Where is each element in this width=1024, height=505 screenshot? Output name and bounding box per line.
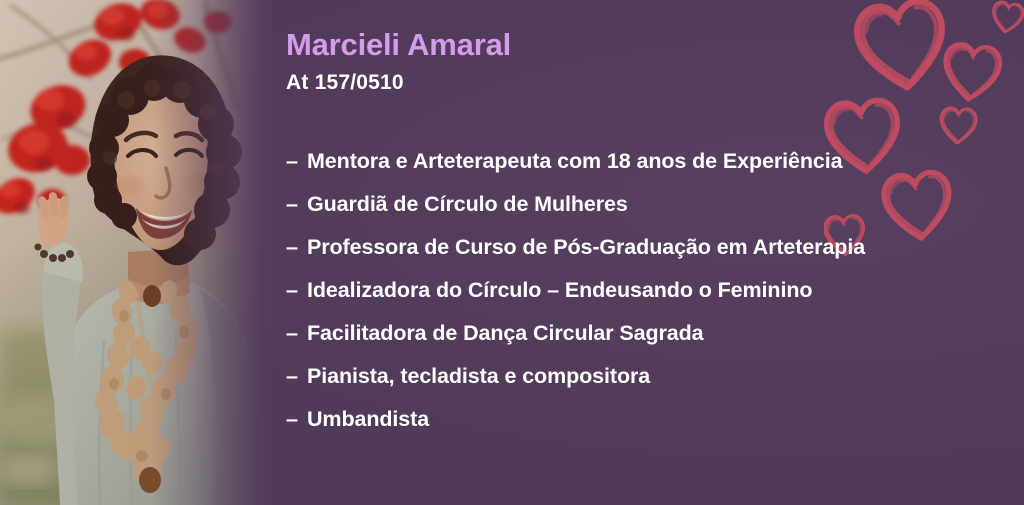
credential-item: – Facilitadora de Dança Circular Sagrada	[286, 312, 1016, 355]
person-name: Marcieli Amaral	[286, 28, 511, 62]
portrait-photo-canvas	[0, 0, 272, 505]
bullet-dash-icon: –	[286, 140, 298, 183]
bullet-dash-icon: –	[286, 269, 298, 312]
credential-text: Pianista, tecladista e compositora	[307, 364, 650, 388]
portrait-illustration	[0, 0, 272, 505]
credential-text: Mentora e Arteterapeuta com 18 anos de E…	[307, 149, 842, 173]
credential-text: Idealizadora do Círculo – Endeusando o F…	[307, 278, 812, 302]
credential-item: – Pianista, tecladista e compositora	[286, 355, 1016, 398]
credential-item: – Umbandista	[286, 398, 1016, 441]
bullet-dash-icon: –	[286, 226, 298, 269]
bullet-dash-icon: –	[286, 312, 298, 355]
credential-text: Umbandista	[307, 407, 429, 431]
profile-banner: Marcieli Amaral At 157/0510 – Mentora e …	[0, 0, 1024, 505]
portrait-photo	[0, 0, 272, 505]
bullet-dash-icon: –	[286, 398, 298, 441]
profile-content: Marcieli Amaral At 157/0510 – Mentora e …	[286, 0, 1016, 505]
credential-item: – Guardiã de Círculo de Mulheres	[286, 183, 1016, 226]
credential-item: – Professora de Curso de Pós-Graduação e…	[286, 226, 1016, 269]
credential-text: Guardiã de Círculo de Mulheres	[307, 192, 628, 216]
credential-text: Professora de Curso de Pós-Graduação em …	[307, 235, 865, 259]
credential-item: – Mentora e Arteterapeuta com 18 anos de…	[286, 140, 1016, 183]
person-subtitle: At 157/0510	[286, 70, 404, 95]
bullet-dash-icon: –	[286, 183, 298, 226]
credential-text: Facilitadora de Dança Circular Sagrada	[307, 321, 704, 345]
credential-item: – Idealizadora do Círculo – Endeusando o…	[286, 269, 1016, 312]
credentials-list: – Mentora e Arteterapeuta com 18 anos de…	[286, 140, 1016, 441]
bullet-dash-icon: –	[286, 355, 298, 398]
